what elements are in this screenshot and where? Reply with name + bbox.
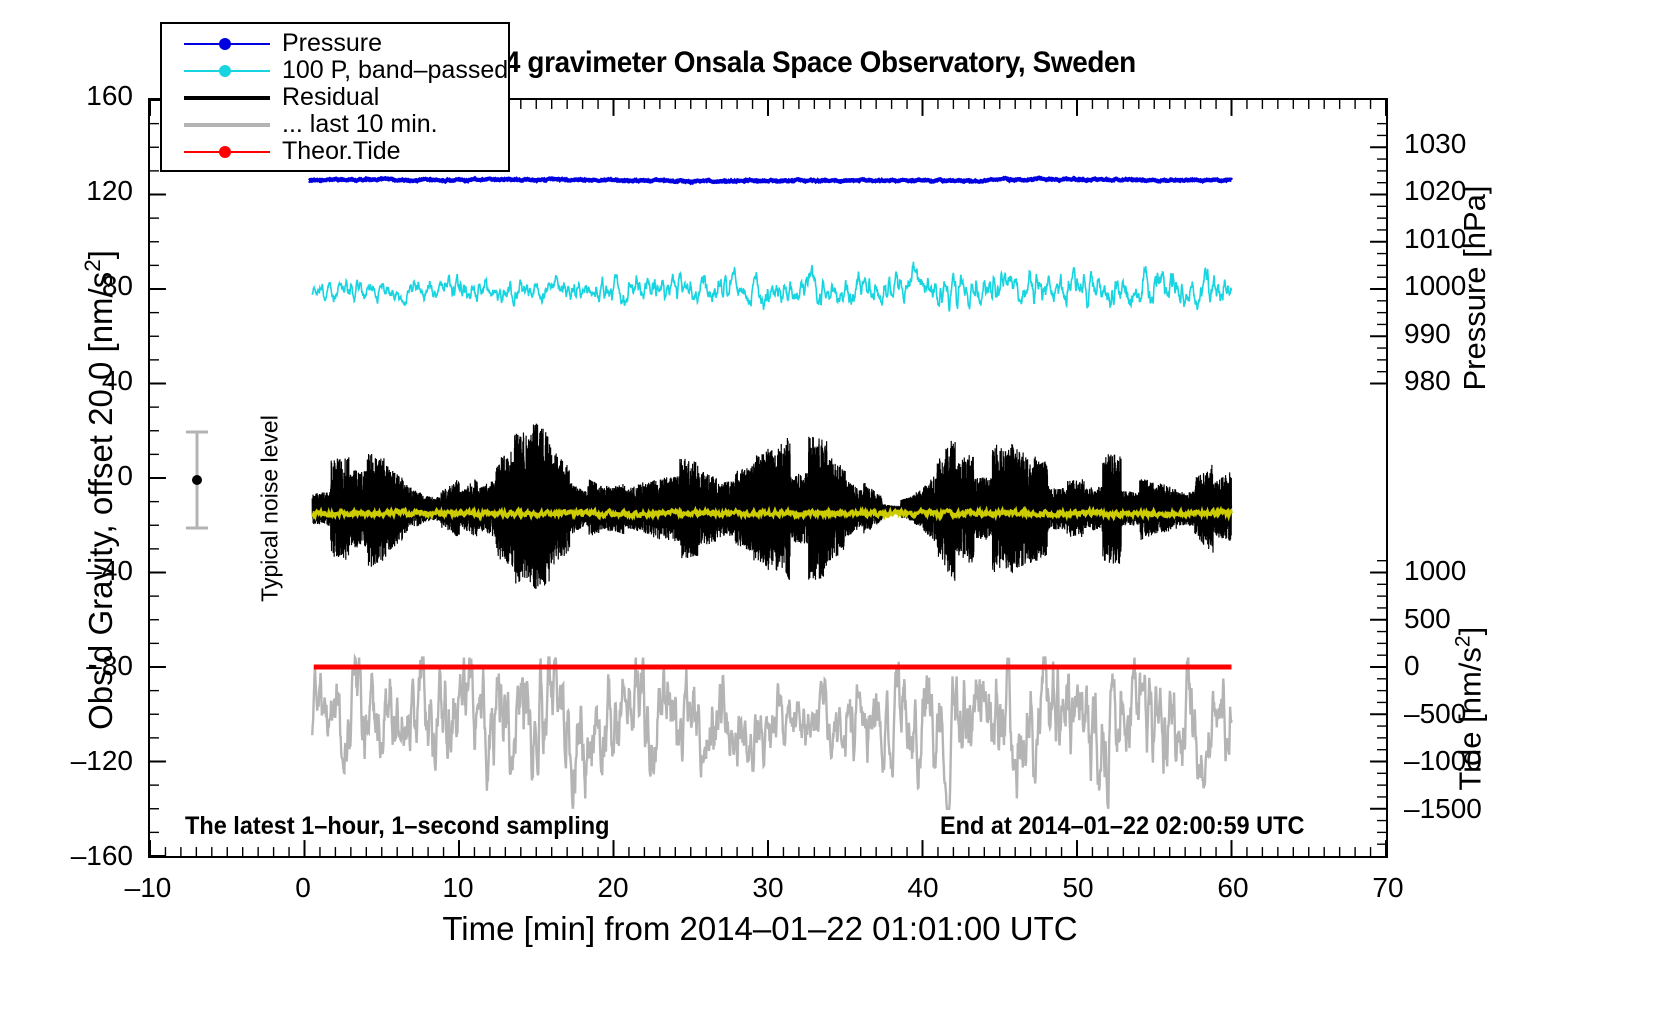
legend-item-theortide[interactable]: Theor.Tide (162, 138, 508, 165)
x-tick-label-7: 60 (1173, 872, 1293, 904)
footer-note-left: The latest 1–hour, 1–second sampling (185, 812, 609, 841)
tide-tick-label-2: 0 (1404, 650, 1544, 682)
pressure-tick-label-5: 980 (1404, 365, 1534, 397)
legend-swatch-bandpassed (184, 61, 270, 81)
legend-label-residual: Residual (282, 85, 379, 110)
pressure-tick-label-3: 1000 (1404, 270, 1534, 302)
tide-tick-label-0: 1000 (1404, 555, 1544, 587)
legend-label-bandpassed: 100 P, band–passed (282, 58, 508, 83)
pressure-tick-label-1: 1020 (1404, 175, 1534, 207)
y-tick-label-2: 80 (0, 270, 133, 302)
x-tick-label-1: 0 (243, 872, 363, 904)
typical-noise-errorbar (182, 430, 212, 530)
typical-noise-label: Typical noise level (257, 389, 284, 629)
y-axis-left-title-close: ] (82, 250, 119, 259)
tide-tick-label-1: 500 (1404, 603, 1544, 635)
legend-swatch-theortide (184, 142, 270, 162)
x-tick-label-8: 70 (1328, 872, 1448, 904)
x-tick-label-5: 40 (863, 872, 983, 904)
y-tick-label-3: 40 (0, 365, 133, 397)
legend-item-bandpassed[interactable]: 100 P, band–passed (162, 57, 508, 84)
tide-tick-label-5: –1500 (1404, 793, 1544, 825)
tide-tick-label-4: –1000 (1404, 745, 1544, 777)
legend-label-pressure: Pressure (282, 31, 382, 56)
plot-canvas (150, 100, 1386, 856)
legend-item-residual[interactable]: Residual (162, 84, 508, 111)
pressure-tick-label-0: 1030 (1404, 128, 1534, 160)
y-axis-right-tide-title-sup: 2 (1451, 635, 1474, 647)
plot-area (148, 98, 1388, 858)
x-tick-label-4: 30 (708, 872, 828, 904)
y-tick-label-6: –80 (0, 650, 133, 682)
legend-swatch-pressure (184, 34, 270, 54)
x-tick-label-2: 10 (398, 872, 518, 904)
x-tick-label-0: –10 (88, 872, 208, 904)
pressure-tick-label-2: 1010 (1404, 223, 1534, 255)
pressure-tick-label-4: 990 (1404, 318, 1534, 350)
x-tick-label-3: 20 (553, 872, 673, 904)
x-tick-label-6: 50 (1018, 872, 1138, 904)
y-tick-label-5: –40 (0, 555, 133, 587)
tide-tick-label-3: –500 (1404, 698, 1544, 730)
legend-label-last10min: ... last 10 min. (282, 112, 438, 137)
footer-note-right: End at 2014–01–22 02:00:59 UTC (940, 812, 1304, 841)
legend-label-theortide: Theor.Tide (282, 139, 401, 164)
legend-item-last10min[interactable]: ... last 10 min. (162, 111, 508, 138)
y-tick-label-8: –160 (0, 840, 133, 872)
y-tick-label-7: –120 (0, 745, 133, 777)
legend: Pressure 100 P, band–passed Residual ...… (160, 22, 510, 172)
x-axis-title: Time [min] from 2014–01–22 01:01:00 UTC (0, 910, 1520, 948)
y-tick-label-1: 120 (0, 175, 133, 207)
y-tick-label-4: 0 (0, 460, 133, 492)
y-tick-label-0: 160 (0, 80, 133, 112)
legend-swatch-last10min (184, 115, 270, 135)
legend-item-pressure[interactable]: Pressure (162, 30, 508, 57)
legend-swatch-residual (184, 88, 270, 108)
